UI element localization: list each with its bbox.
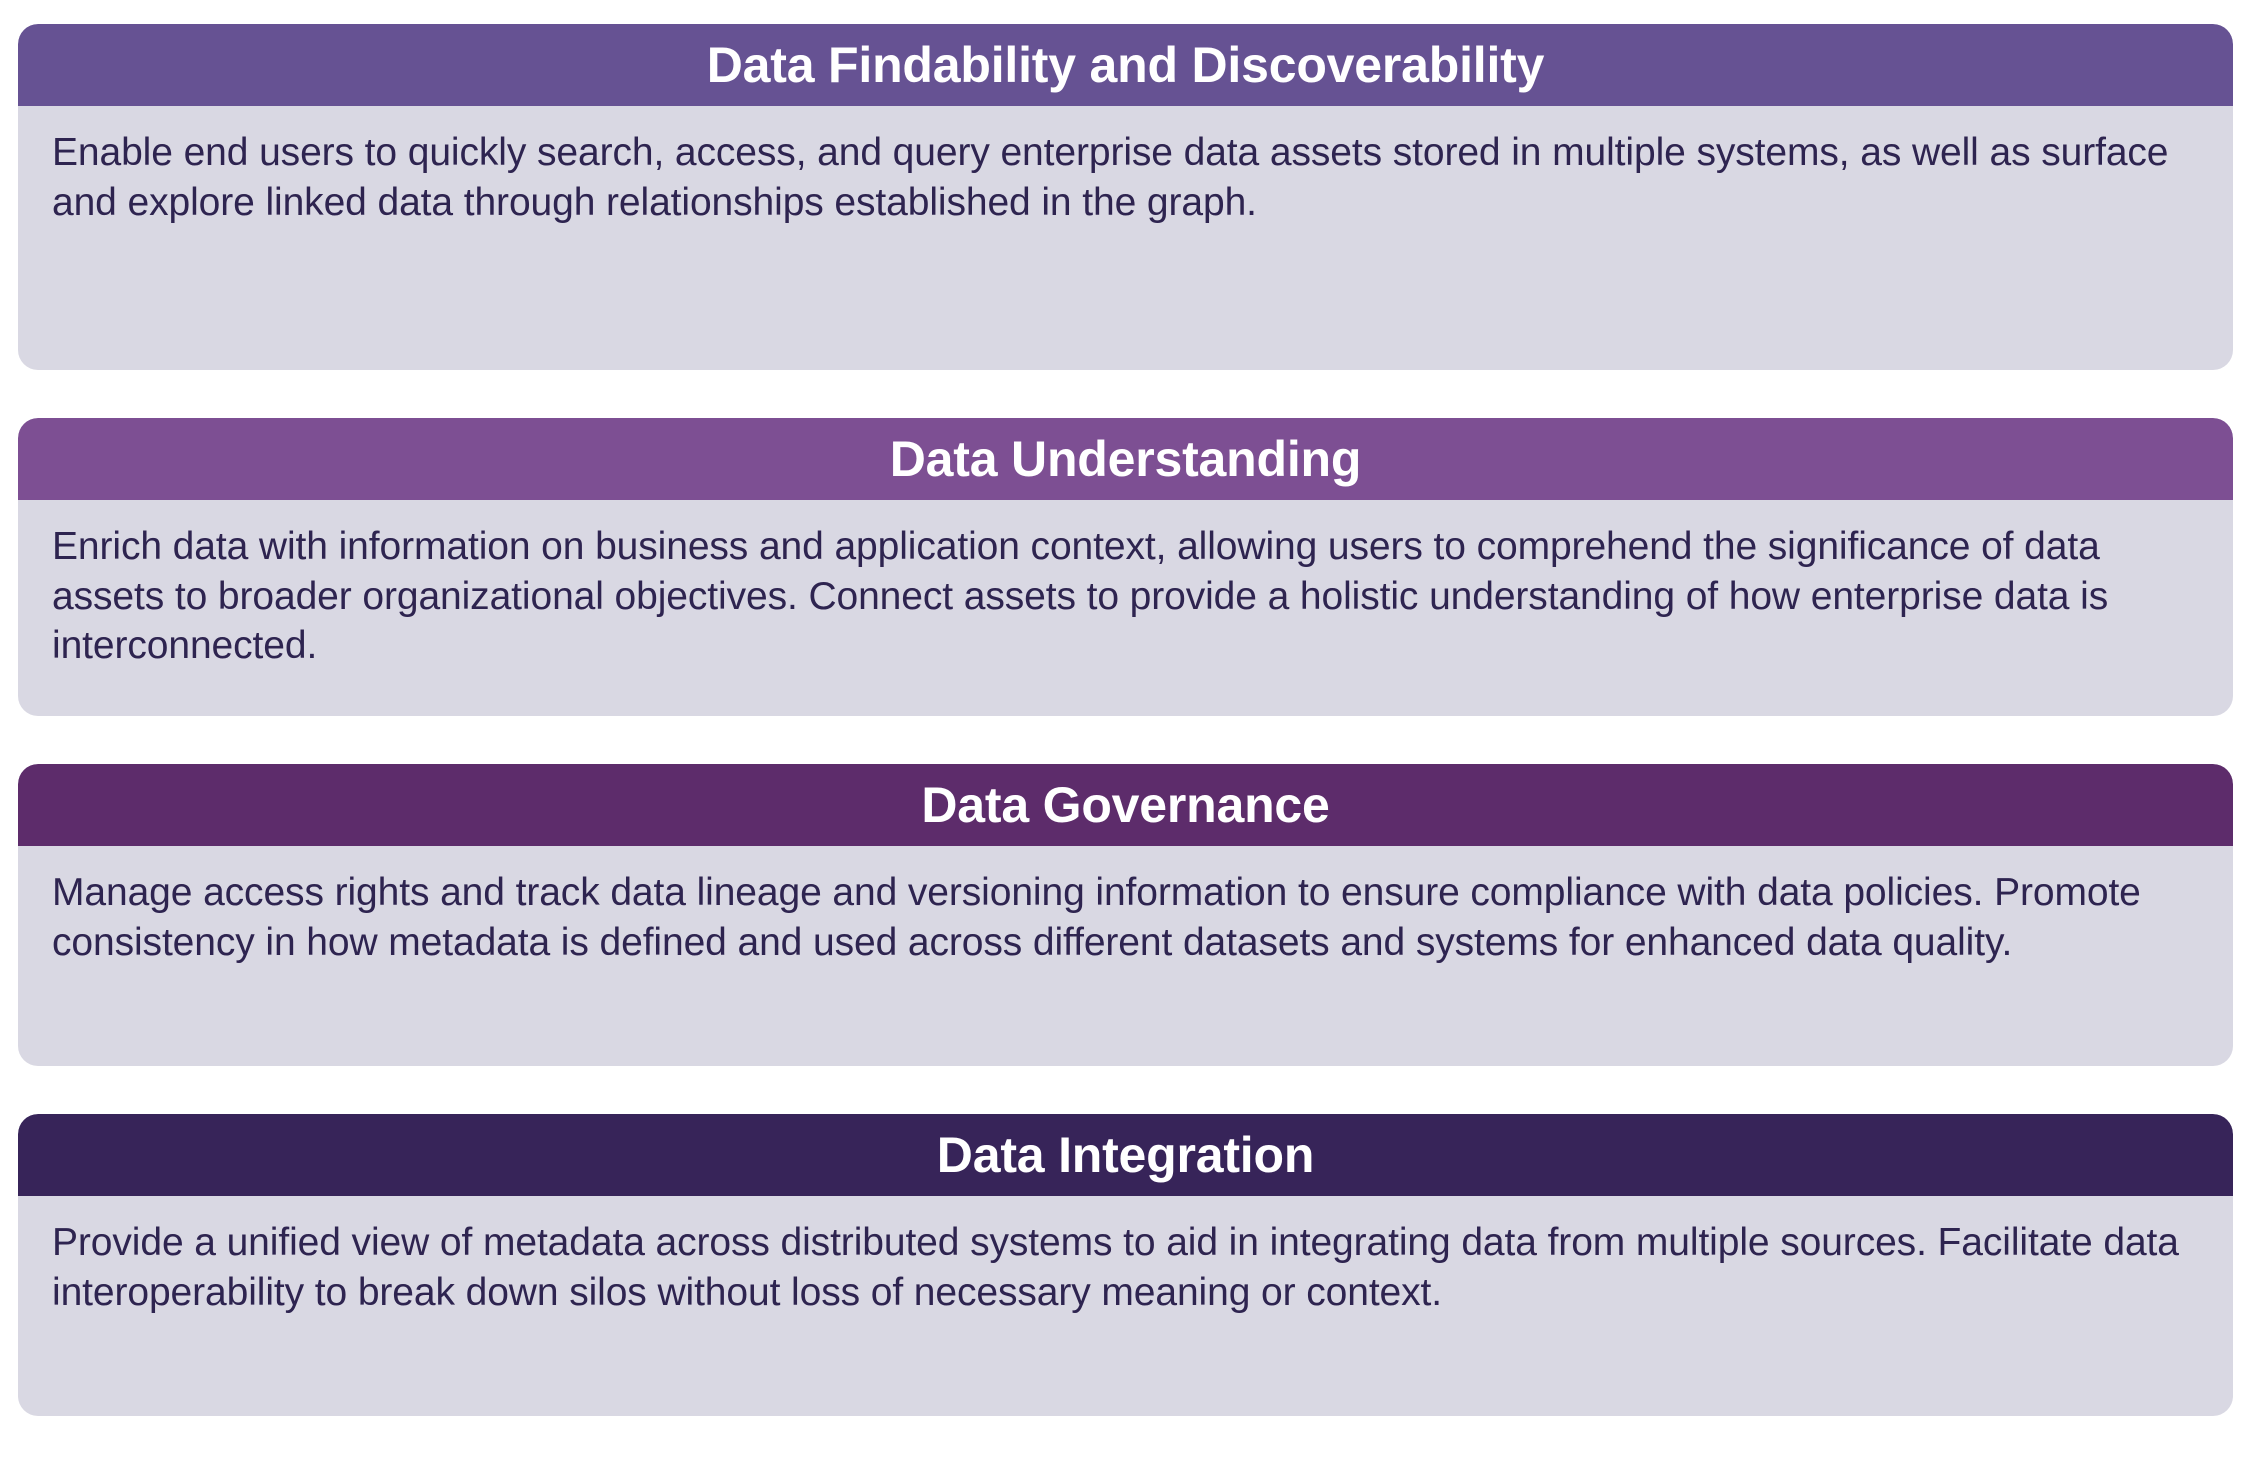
card-title-governance: Data Governance <box>921 780 1329 830</box>
card-title-findability: Data Findability and Discoverability <box>707 40 1544 90</box>
card-body-findability: Enable end users to quickly search, acce… <box>18 106 2233 370</box>
card-header-integration: Data Integration <box>18 1114 2233 1196</box>
card-description-understanding: Enrich data with information on business… <box>52 522 2199 671</box>
capability-card-integration: Data Integration Provide a unified view … <box>18 1114 2233 1416</box>
card-header-findability: Data Findability and Discoverability <box>18 24 2233 106</box>
card-body-understanding: Enrich data with information on business… <box>18 500 2233 716</box>
card-header-understanding: Data Understanding <box>18 418 2233 500</box>
capability-card-list: Data Findability and Discoverability Ena… <box>0 0 2260 1460</box>
capability-card-understanding: Data Understanding Enrich data with info… <box>18 418 2233 716</box>
card-body-integration: Provide a unified view of metadata acros… <box>18 1196 2233 1416</box>
card-title-integration: Data Integration <box>937 1130 1314 1180</box>
card-title-understanding: Data Understanding <box>890 434 1361 484</box>
card-description-governance: Manage access rights and track data line… <box>52 868 2199 967</box>
card-header-governance: Data Governance <box>18 764 2233 846</box>
capability-card-governance: Data Governance Manage access rights and… <box>18 764 2233 1066</box>
card-description-integration: Provide a unified view of metadata acros… <box>52 1218 2199 1317</box>
card-body-governance: Manage access rights and track data line… <box>18 846 2233 1066</box>
card-description-findability: Enable end users to quickly search, acce… <box>52 128 2199 227</box>
capability-card-findability: Data Findability and Discoverability Ena… <box>18 24 2233 370</box>
